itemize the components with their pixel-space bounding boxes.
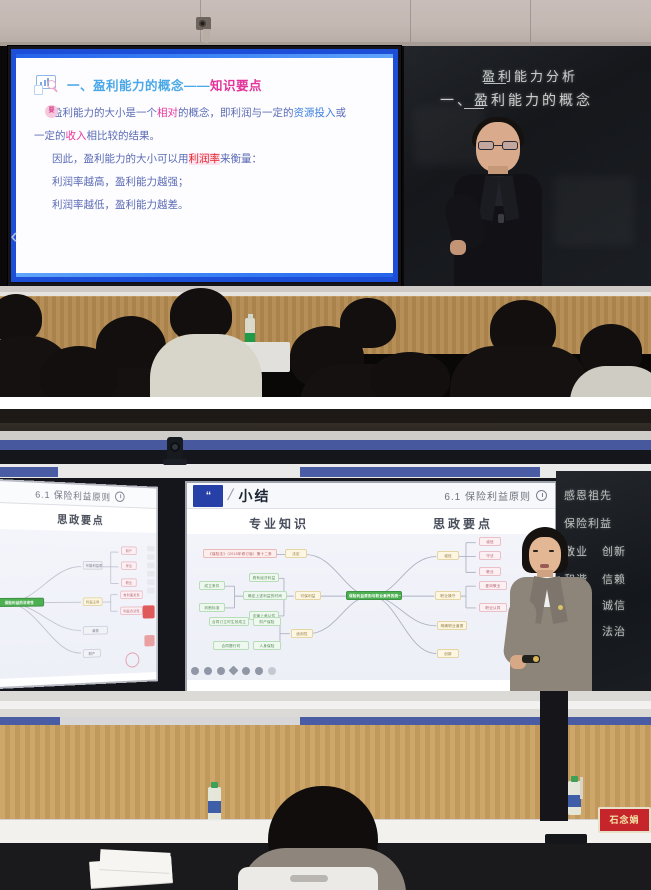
mindmap-node[interactable]: 爱岗敬业 <box>479 581 507 590</box>
mindmap-node[interactable]: 职业操守 <box>435 591 461 600</box>
line1-mid: 的概念，即利润与一定的 <box>178 107 294 119</box>
line2-mid: 相比较的结果。 <box>87 130 161 142</box>
slide-title: 一、盈利能力的概念——知识要点 <box>67 75 262 94</box>
main-screen-chapter: 6.1 保险利益原则 <box>444 488 531 503</box>
student-head <box>340 298 396 348</box>
photo-divider <box>0 397 651 409</box>
next-icon[interactable] <box>268 667 276 675</box>
line3-mid: 来衡量： <box>220 153 262 165</box>
male-instructor <box>452 122 544 287</box>
slide-prev-arrow-icon[interactable]: ‹ <box>6 222 22 250</box>
left-node[interactable]: 诚信 <box>83 626 108 635</box>
slide-line-2: 一定的收入相比较的结果。 <box>34 131 375 142</box>
blue-trim-left <box>0 467 58 477</box>
left-node[interactable]: 职业 <box>121 578 137 587</box>
bb2-line-1: 感恩祖先 <box>564 487 612 503</box>
mindmap-canvas[interactable]: 保险利益原则与职业素养的统一 《保险法》（2015年修订版）第十二条 法定 具有… <box>187 534 555 680</box>
left-screen-canvas[interactable]: 保险利益的法定性 可保利益原则 利益主体 诚信 财产 财产 学业 职业 有利害关… <box>0 529 156 679</box>
slide-line-3: 因此，盈利能力的大小可以用利润率来衡量： <box>34 154 375 165</box>
column-labels: 专业知识 思政要点 <box>187 509 555 532</box>
mindmap-node[interactable]: 职业认同 <box>479 603 507 612</box>
bb2-line-8: 法治 <box>602 623 626 639</box>
line1-hl1: 相对 <box>157 107 178 119</box>
student-head <box>370 352 450 397</box>
mobile-phone <box>545 834 587 844</box>
slide-top-band <box>16 54 393 58</box>
slide-body: 盈利能力的大小是一个相对的概念，即利润与一定的资源投入或 一定的收入相比较的结果… <box>34 108 375 211</box>
instructor2-eye-left <box>533 550 538 552</box>
help-button[interactable] <box>125 652 139 668</box>
mindmap-node[interactable]: 诚信 <box>479 537 501 546</box>
record-button[interactable] <box>143 605 155 618</box>
mindmap-node[interactable]: 守法 <box>479 551 501 560</box>
camera-mount <box>203 29 210 43</box>
mindmap-node[interactable]: 财产保险 <box>253 617 281 626</box>
photo-bottom-classroom: 6.1 保险利益原则 思政要点 保险利益的法定性 可保利益原则 利益主体 诚信 … <box>0 409 651 890</box>
left-node[interactable]: 财产 <box>121 546 137 555</box>
bb2-line-7: 诚信 <box>602 597 626 613</box>
left-screen-header: 6.1 保险利益原则 <box>0 481 156 509</box>
left-node[interactable]: 可保利益原则 <box>83 561 103 570</box>
header-slash: / <box>226 487 235 505</box>
line2-pre: 一定的 <box>34 130 66 142</box>
mindmap-node[interactable]: 法定 <box>285 549 307 558</box>
blue-wall-trim <box>0 440 651 450</box>
instructor2-eye-right <box>549 550 554 552</box>
photo-top-classroom: 一、盈利能力的概念——知识要点 要 盈利能力的大小是一个相对的概念，即利润与一定… <box>0 0 651 397</box>
column-label-left: 专业知识 <box>187 515 371 532</box>
name-plate: 石念娟 <box>598 807 651 833</box>
left-display-screen[interactable]: 6.1 保险利益原则 思政要点 保险利益的法定性 可保利益原则 利益主体 诚信 … <box>0 479 158 689</box>
pan-icon[interactable] <box>191 667 199 675</box>
mindmap-node[interactable]: 敬业 <box>479 567 501 576</box>
left-node[interactable]: 有利害关系 <box>120 591 142 600</box>
attendee-chair <box>238 867 378 890</box>
line3-pre: 因此，盈利能力的大小可以用 <box>52 153 189 165</box>
chart-magnifier-icon <box>34 72 60 96</box>
left-node[interactable]: 利益主体 <box>83 597 103 606</box>
left-node[interactable]: 利益合法性 <box>120 606 142 615</box>
slide-header: 一、盈利能力的概念——知识要点 <box>34 72 379 96</box>
screenshot-root: 一、盈利能力的概念——知识要点 要 盈利能力的大小是一个相对的概念，即利润与一定… <box>0 0 651 890</box>
handout-papers <box>100 849 171 873</box>
lower-room-area <box>0 691 651 890</box>
mindmap-node[interactable]: 可保利益 <box>295 591 321 600</box>
blackboard-line-2: 一、盈利能力的概念 <box>440 90 593 110</box>
mindmap-node[interactable]: 具有经济利益 <box>249 573 279 582</box>
line3-hl1: 利润率 <box>189 153 221 165</box>
more-icon[interactable] <box>255 667 263 675</box>
main-screen-title: 小结 <box>238 486 270 506</box>
select-icon[interactable] <box>204 667 212 675</box>
female-instructor <box>508 527 594 697</box>
audience-area <box>0 286 651 397</box>
main-screen-header-right: 6.1 保险利益原则 <box>444 488 547 503</box>
left-core-node[interactable]: 保险利益的法定性 <box>0 598 44 608</box>
left-screen-subtitle: 思政要点 <box>0 509 156 529</box>
mindmap-core-node[interactable]: 保险利益原则与职业素养的统一 <box>346 591 402 600</box>
upper-wall <box>0 0 651 46</box>
mindmap-node[interactable]: 人身保险 <box>253 641 281 650</box>
eraser-icon[interactable] <box>229 666 239 676</box>
bb2-line-6: 信赖 <box>602 571 626 587</box>
stop-button[interactable] <box>144 635 154 646</box>
clock-icon <box>536 490 547 501</box>
instructor-hand <box>450 240 466 255</box>
mindmap-node[interactable]: 诚信 <box>437 551 459 560</box>
left-screen-title: 6.1 保险利益原则 <box>35 486 111 503</box>
main-whiteboard-screen[interactable]: “ / 小结 6.1 保险利益原则 专业知识 思政要点 <box>185 481 557 693</box>
main-screen-header: “ / 小结 6.1 保险利益原则 <box>187 483 555 509</box>
blue-trim-right <box>300 467 540 477</box>
line1-post: 或 <box>336 107 347 119</box>
ceiling-camera-icon <box>167 437 183 461</box>
mindmap-node[interactable]: 判断标准 <box>199 603 225 612</box>
student-head <box>40 346 118 397</box>
student-light-jacket <box>150 334 262 397</box>
bb2-line-4: 创新 <box>602 543 626 559</box>
line1-pre: 盈利能力的大小是一个 <box>52 107 157 119</box>
slide-bottom-band <box>16 273 393 277</box>
water-bottle <box>208 787 221 821</box>
left-node[interactable]: 学业 <box>121 561 137 570</box>
slide-line-5: 利润率越低，盈利能力越差。 <box>34 200 375 211</box>
mindmap-node[interactable]: 《保险法》（2015年修订版）第十二条 <box>203 549 277 558</box>
slide-title-main: 一、盈利能力的概念—— <box>67 79 210 93</box>
lecture-slide: 一、盈利能力的概念——知识要点 要 盈利能力的大小是一个相对的概念，即利润与一定… <box>16 54 393 277</box>
clock-icon <box>115 491 125 502</box>
camera-base <box>163 459 187 465</box>
line1-hl2: 资源投入 <box>294 107 336 119</box>
mindmap-node[interactable]: 合同订立时生效成立 <box>209 617 249 626</box>
mindmap-node[interactable]: 创新 <box>437 649 459 658</box>
slide-line-1: 盈利能力的大小是一个相对的概念，即利润与一定的资源投入或 <box>34 108 375 119</box>
mindmap-node[interactable]: 合同履行时 <box>213 641 249 650</box>
straw <box>580 777 583 799</box>
pen-icon[interactable] <box>217 667 225 675</box>
mindmap-node[interactable]: 适用性 <box>291 629 313 638</box>
instructor2-mouth <box>540 564 549 568</box>
mindmap-node[interactable]: 确定上述利益的时间 <box>243 591 287 600</box>
shape-icon[interactable] <box>242 667 250 675</box>
slide-badge: 要 <box>45 105 58 118</box>
clip-microphone-icon <box>498 214 504 223</box>
slide-title-accent: 知识要点 <box>210 79 262 93</box>
student-shoulders <box>450 346 590 397</box>
water-bottle <box>245 318 255 345</box>
eyeglasses-icon <box>478 141 518 150</box>
quote-logo-icon: “ <box>193 485 223 507</box>
mindmap-node[interactable]: 明确职业道德 <box>437 621 467 630</box>
slide-line-4: 利润率越高，盈利能力越强； <box>34 177 375 188</box>
lapel-pin-icon <box>558 605 563 610</box>
presenter-remote-icon <box>522 655 540 663</box>
whiteboard-toolbar[interactable] <box>191 664 276 677</box>
left-screen-side-tools[interactable] <box>147 546 155 593</box>
mindmap-node[interactable]: 成立条件 <box>199 581 225 590</box>
line2-hl1: 收入 <box>66 130 87 142</box>
standing-person-legs <box>540 691 568 821</box>
left-node[interactable]: 财产 <box>83 649 101 659</box>
